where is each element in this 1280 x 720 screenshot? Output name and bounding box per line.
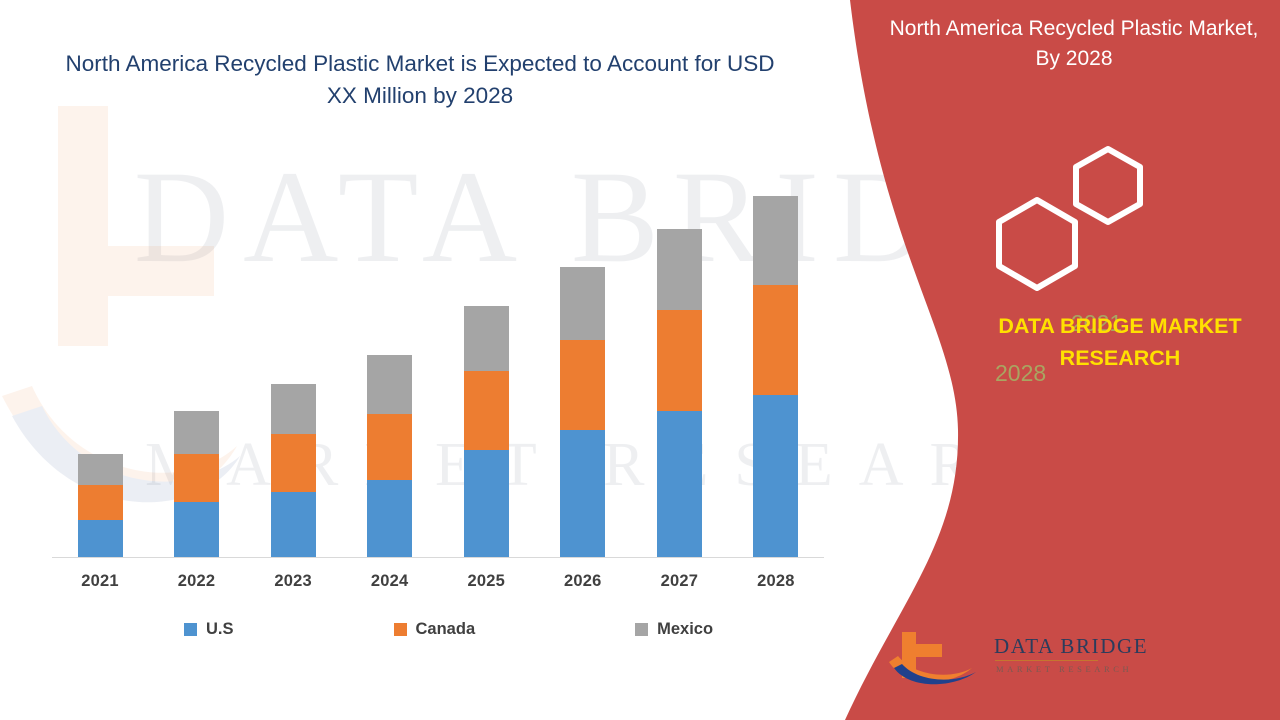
bar-group [535,180,631,557]
bar-segment-us[interactable] [367,480,412,557]
bar-segment-canada[interactable] [464,371,509,450]
brand-line-2: RESEARCH [1060,346,1181,370]
bar-segment-us[interactable] [464,450,509,557]
stacked-bar[interactable] [657,229,702,557]
chart-legend: U.SCanadaMexico [52,616,824,642]
bar-group [631,180,727,557]
legend-label: Canada [416,620,476,639]
bar-segment-us[interactable] [560,430,605,557]
stacked-bar[interactable] [78,454,123,557]
bar-segment-mexico[interactable] [271,384,316,434]
company-logo: DATA BRIDGE MARKET RESEARCH [886,628,1101,690]
bar-chart-plot [52,180,824,557]
x-tick-label: 2025 [438,572,534,591]
legend-label: U.S [206,620,234,639]
bar-group [52,180,148,557]
legend-swatch-icon [635,623,648,636]
bar-segment-us[interactable] [174,502,219,557]
legend-swatch-icon [184,623,197,636]
stacked-bar[interactable] [753,196,798,557]
bar-group [149,180,245,557]
bar-segment-mexico[interactable] [753,196,798,285]
bar-segment-canada[interactable] [271,434,316,492]
bar-segment-us[interactable] [657,411,702,557]
bar-segment-mexico[interactable] [174,411,219,454]
bar-group [728,180,824,557]
x-tick-label: 2028 [728,572,824,591]
infographic-canvas: DATA BRIDGE MARKET RESEARCH North Americ… [0,0,1280,720]
bar-segment-mexico[interactable] [78,454,123,485]
legend-item-us[interactable]: U.S [184,620,234,639]
bar-segment-mexico[interactable] [464,306,509,371]
x-tick-label: 2027 [631,572,727,591]
bar-group [245,180,341,557]
brand-name-panel: DATA BRIDGE MARKET RESEARCH [975,310,1265,375]
x-tick-label: 2024 [342,572,438,591]
x-tick-label: 2026 [535,572,631,591]
logo-name: DATA BRIDGE [994,634,1148,659]
bar-segment-canada[interactable] [753,285,798,395]
legend-item-mexico[interactable]: Mexico [635,620,713,639]
x-tick-label: 2021 [52,572,148,591]
legend-label: Mexico [657,620,713,639]
logo-b-mark-icon [886,628,986,690]
bar-segment-canada[interactable] [367,414,412,480]
logo-tagline: MARKET RESEARCH [996,664,1132,674]
bar-segment-canada[interactable] [657,310,702,411]
x-axis-tick-labels: 20212022202320242025202620272028 [52,572,824,591]
stacked-bar[interactable] [560,267,605,557]
bar-segment-canada[interactable] [560,340,605,430]
brand-line-1: DATA BRIDGE MARKET [998,314,1241,338]
x-axis-line [52,557,824,558]
bar-segment-us[interactable] [753,395,798,557]
bar-group [342,180,438,557]
x-tick-label: 2023 [245,572,341,591]
legend-swatch-icon [394,623,407,636]
bar-segment-mexico[interactable] [657,229,702,310]
bar-segment-canada[interactable] [174,454,219,502]
stacked-bar[interactable] [271,384,316,557]
bar-segment-mexico[interactable] [367,355,412,413]
bar-segment-canada[interactable] [78,485,123,520]
bar-segment-us[interactable] [78,520,123,557]
hexagon-badges: 2021 2028 [975,140,1185,300]
stacked-bar[interactable] [174,411,219,557]
bar-segment-us[interactable] [271,492,316,557]
stacked-bar[interactable] [464,306,509,557]
logo-divider [995,660,1098,661]
chart-title: North America Recycled Plastic Market is… [60,48,780,112]
legend-item-canada[interactable]: Canada [394,620,476,639]
bar-segment-mexico[interactable] [560,267,605,340]
panel-title: North America Recycled Plastic Market, B… [888,14,1260,75]
stacked-bar[interactable] [367,355,412,557]
x-tick-label: 2022 [149,572,245,591]
bar-group [438,180,534,557]
